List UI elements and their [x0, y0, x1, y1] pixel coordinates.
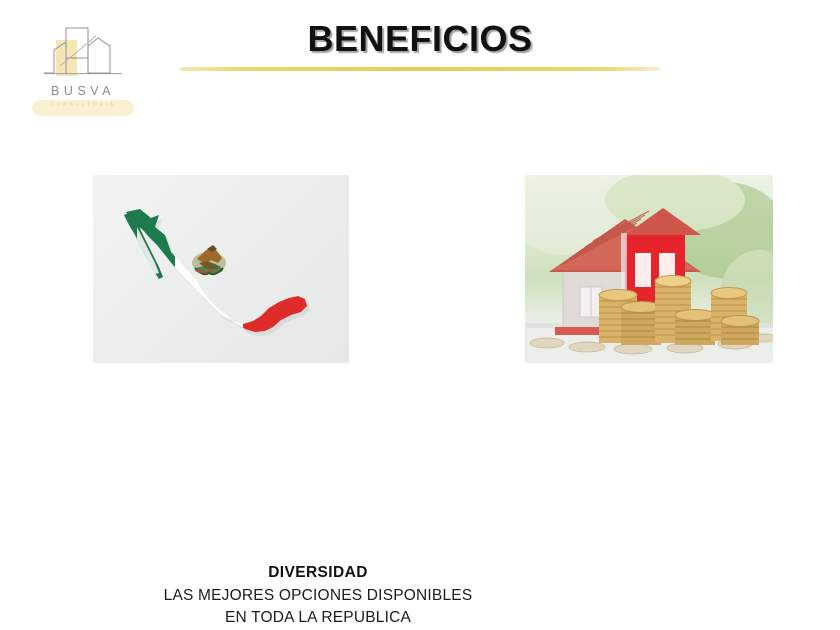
- benefit-card-diversidad: DIVERSIDAD LAS MEJORES OPCIONES DISPONIB…: [93, 175, 349, 363]
- caption-diversidad: DIVERSIDAD LAS MEJORES OPCIONES DISPONIB…: [103, 562, 533, 628]
- title-underline-rule: [180, 67, 660, 71]
- logo-tagline-text: CONSULTORIA: [32, 102, 134, 108]
- busva-logo: BUSVA CONSULTORIA: [28, 26, 138, 126]
- mexico-map-flag-image: [93, 175, 349, 363]
- caption-body-line-2: EN TODA LA REPUBLICA: [103, 607, 533, 628]
- caption-body-line-1: LAS MEJORES OPCIONES DISPONIBLES: [103, 585, 533, 606]
- logo-brand-text: BUSVA: [28, 84, 138, 98]
- caption-title: DIVERSIDAD: [103, 562, 533, 583]
- busva-buildings-logo-icon: [40, 26, 126, 82]
- house-with-coin-stacks-icon: [525, 175, 773, 363]
- house-and-coins-image: [525, 175, 773, 363]
- slide-title: BENEFICIOS: [180, 18, 660, 60]
- mexico-map-shape-icon: [93, 175, 349, 363]
- logo-tagline-highlight: CONSULTORIA: [32, 100, 134, 116]
- benefit-card-accesibilidad: ACCESIBILIDAD INVERSIONES DE ACUERDO A S…: [525, 175, 773, 363]
